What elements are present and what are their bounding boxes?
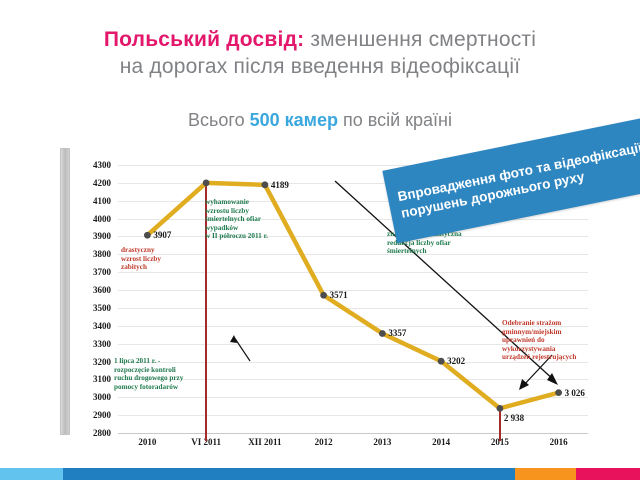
title-line-2: на дорогах після введення відеофіксації (0, 53, 640, 80)
page-subtitle: Всього 500 камер по всій країні (0, 110, 640, 131)
data-point-label: 3571 (330, 290, 348, 300)
data-point-marker (203, 179, 210, 186)
x-axis-tick-label: 2010 (138, 437, 156, 447)
page-title: Польський досвід: зменшення смертності н… (0, 26, 640, 80)
annotation-drastic-increase: drastyczny wzrost liczby zabitych (121, 246, 183, 272)
y-axis-tick-label: 4000 (93, 214, 111, 224)
annotation-speed-cameras-start: 1 lipca 2011 r. - rozpoczęcie kontroli r… (114, 357, 206, 391)
vertical-scrollbar[interactable] (60, 148, 70, 435)
title-highlight: Польський досвід: (104, 28, 304, 51)
y-axis-tick-label: 3800 (93, 249, 111, 259)
y-axis-tick-label: 3400 (93, 321, 111, 331)
bar-segment-orange (515, 468, 576, 480)
subtitle-after: по всій країні (338, 110, 452, 130)
data-point-marker (555, 389, 562, 396)
data-point-label: 2 938 (504, 413, 524, 423)
bar-segment-blue (63, 468, 515, 480)
bar-segment-pink (576, 468, 640, 480)
y-axis-tick-label: 3200 (93, 357, 111, 367)
y-axis-tick-label: 3900 (93, 231, 111, 241)
title-line-1: Польський досвід: зменшення смертності (0, 26, 640, 53)
gridline (118, 433, 588, 434)
y-axis-tick-label: 2900 (93, 410, 111, 420)
x-axis-tick-label: 2016 (550, 437, 568, 447)
data-point-marker (379, 330, 386, 337)
bottom-color-bar (0, 468, 640, 480)
data-point-label: 3907 (153, 230, 171, 240)
x-axis-tick-label: 2014 (432, 437, 450, 447)
x-axis-tick-label: 2013 (373, 437, 391, 447)
x-axis-tick-label: 2012 (315, 437, 333, 447)
y-axis-tick-label: 4200 (93, 178, 111, 188)
data-point-marker (261, 181, 268, 188)
y-axis-tick-label: 4100 (93, 196, 111, 206)
data-point-label: 3357 (388, 328, 406, 338)
data-point-marker (438, 358, 445, 365)
arrow-to-event-line (230, 335, 250, 361)
y-axis-tick-label: 3000 (93, 392, 111, 402)
y-axis-tick-label: 2800 (93, 428, 111, 438)
data-point-marker (496, 405, 503, 412)
y-axis-tick-label: 3100 (93, 374, 111, 384)
data-point-label: 3202 (447, 356, 465, 366)
data-point-marker (320, 292, 327, 299)
x-axis-tick-label: XII 2011 (248, 437, 281, 447)
y-axis-tick-label: 3600 (93, 285, 111, 295)
data-point-label: 3 026 (565, 388, 585, 398)
title-line-1-rest: зменшення смертності (304, 28, 536, 51)
data-point-marker (144, 232, 151, 239)
subtitle-before: Всього (188, 110, 250, 130)
y-axis-tick-label: 3500 (93, 303, 111, 313)
subtitle-accent: 500 камер (250, 110, 338, 130)
data-point-label: 4189 (271, 180, 289, 190)
y-axis-tick-label: 3300 (93, 339, 111, 349)
y-axis-tick-label: 3700 (93, 267, 111, 277)
bar-segment-light-blue (0, 468, 63, 480)
annotation-slowdown: wyhamowanie wzrostu liczby śmiertelnych … (205, 198, 285, 241)
annotation-powers-revoked: Odebranie strażom gminnym/miejskim upraw… (502, 319, 602, 362)
y-axis-tick-label: 4300 (93, 160, 111, 170)
